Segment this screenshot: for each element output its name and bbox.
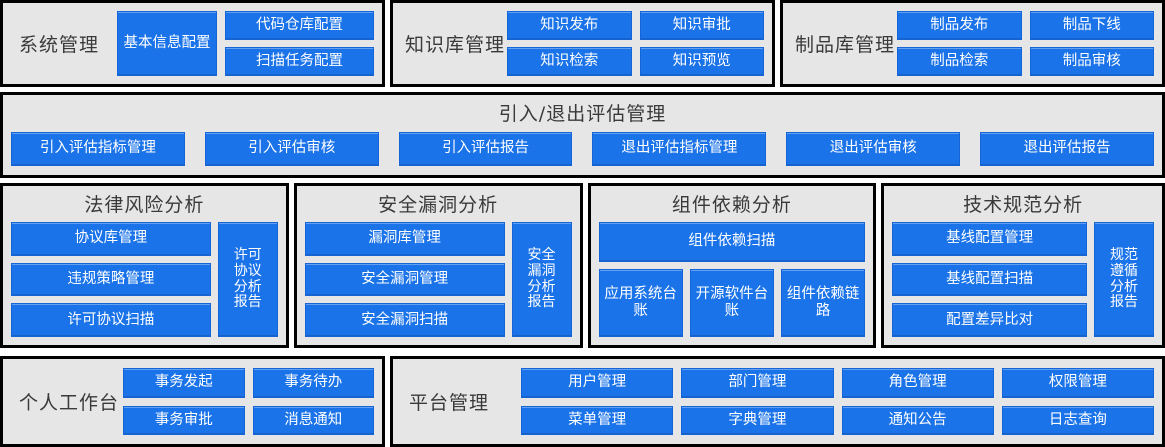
workbench-column-2: 事务待办 消息通知 [253, 368, 375, 435]
button-exit-eval-indicator-management[interactable]: 退出评估指标管理 [592, 132, 766, 166]
button-transaction-approve[interactable]: 事务审批 [123, 406, 245, 436]
panel-title-platform-management: 平台管理 [403, 388, 521, 415]
button-basic-info-config[interactable]: 基本信息配置 [117, 11, 217, 76]
button-scan-task-config[interactable]: 扫描任务配置 [225, 47, 374, 76]
panel-platform-management: 平台管理 用户管理 菜单管理 部门管理 字典管理 角色管理 通知公告 权限管理 … [390, 356, 1165, 447]
button-intro-eval-report[interactable]: 引入评估报告 [399, 132, 573, 166]
button-artifact-search[interactable]: 制品检索 [897, 47, 1022, 76]
button-component-dependency-scan[interactable]: 组件依赖扫描 [599, 222, 866, 262]
legal-risk-report-wrap: 许可协议分析报告 [218, 222, 278, 337]
button-role-management[interactable]: 角色管理 [842, 368, 994, 398]
security-report-wrap: 安全漏洞分析报告 [512, 222, 572, 337]
workbench-column-1: 事务发起 事务审批 [123, 368, 245, 435]
panel-title-knowledge-base-management: 知识库管理 [403, 30, 507, 57]
button-component-dependency-chain[interactable]: 组件依赖链路 [781, 269, 865, 337]
platform-column-2: 部门管理 字典管理 [681, 368, 833, 435]
button-permission-management[interactable]: 权限管理 [1002, 368, 1154, 398]
row-top: 系统管理 基本信息配置 代码仓库配置 扫描任务配置 知识库管理 知识发布 知识检… [0, 0, 1165, 87]
button-user-management[interactable]: 用户管理 [521, 368, 673, 398]
button-config-difference-comparison[interactable]: 配置差异比对 [892, 303, 1087, 337]
button-license-analysis-report[interactable]: 许可协议分析报告 [218, 222, 278, 337]
button-baseline-config-scan[interactable]: 基线配置扫描 [892, 263, 1087, 297]
button-security-vulnerability-analysis-report[interactable]: 安全漏洞分析报告 [512, 222, 572, 337]
platform-column-3: 角色管理 通知公告 [842, 368, 994, 435]
system-management-buttons: 基本信息配置 代码仓库配置 扫描任务配置 [117, 3, 374, 84]
platform-column-1: 用户管理 菜单管理 [521, 368, 673, 435]
evaluation-buttons: 引入评估指标管理 引入评估审核 引入评估报告 退出评估指标管理 退出评估审核 退… [11, 129, 1154, 168]
button-transaction-initiate[interactable]: 事务发起 [123, 368, 245, 398]
panel-title-introduction-exit-evaluation: 引入/退出评估管理 [11, 99, 1154, 126]
button-code-repo-config[interactable]: 代码仓库配置 [225, 11, 374, 40]
button-open-source-software-ledger[interactable]: 开源软件台账 [690, 269, 774, 337]
button-exit-eval-report[interactable]: 退出评估报告 [980, 132, 1154, 166]
panel-title-technical-specification-analysis: 技术规范分析 [892, 190, 1154, 217]
panel-title-system-management: 系统管理 [13, 30, 117, 57]
button-knowledge-approve[interactable]: 知识审批 [640, 11, 765, 40]
system-management-column-2: 代码仓库配置 扫描任务配置 [225, 11, 374, 76]
button-knowledge-search[interactable]: 知识检索 [507, 47, 632, 76]
panel-security-vulnerability-analysis: 安全漏洞分析 漏洞库管理 安全漏洞管理 安全漏洞扫描 安全漏洞分析报告 [294, 183, 583, 348]
panel-title-security-vulnerability-analysis: 安全漏洞分析 [305, 190, 572, 217]
technical-specification-buttons: 基线配置管理 基线配置扫描 配置差异比对 [892, 222, 1087, 337]
button-exit-eval-review[interactable]: 退出评估审核 [786, 132, 960, 166]
panel-title-component-dependency-analysis: 组件依赖分析 [599, 190, 866, 217]
panel-title-legal-risk-analysis: 法律风险分析 [11, 190, 278, 217]
technical-report-wrap: 规范遵循分析报告 [1094, 222, 1154, 337]
button-knowledge-publish[interactable]: 知识发布 [507, 11, 632, 40]
button-department-management[interactable]: 部门管理 [681, 368, 833, 398]
button-menu-management[interactable]: 菜单管理 [521, 406, 673, 436]
legal-risk-buttons: 协议库管理 违规策略管理 许可协议扫描 [11, 222, 211, 337]
button-transaction-todo[interactable]: 事务待办 [253, 368, 375, 398]
technical-specification-body: 基线配置管理 基线配置扫描 配置差异比对 规范遵循分析报告 [892, 222, 1154, 337]
button-artifact-publish[interactable]: 制品发布 [897, 11, 1022, 40]
row-analysis: 法律风险分析 协议库管理 违规策略管理 许可协议扫描 许可协议分析报告 安全漏洞… [0, 183, 1165, 348]
panel-title-personal-workbench: 个人工作台 [13, 388, 123, 415]
button-message-notification[interactable]: 消息通知 [253, 406, 375, 436]
button-intro-eval-review[interactable]: 引入评估审核 [205, 132, 379, 166]
panel-legal-risk-analysis: 法律风险分析 协议库管理 违规策略管理 许可协议扫描 许可协议分析报告 [0, 183, 289, 348]
panel-title-artifact-repository-management: 制品库管理 [793, 30, 897, 57]
component-dependency-scan-wrap: 组件依赖扫描 [599, 222, 866, 262]
row-bottom: 个人工作台 事务发起 事务审批 事务待办 消息通知 平台管理 用户管理 菜单管理 [0, 356, 1165, 447]
button-violation-policy-management[interactable]: 违规策略管理 [11, 263, 211, 297]
button-log-query[interactable]: 日志查询 [1002, 406, 1154, 436]
artifact-repository-buttons: 制品发布 制品检索 制品下线 制品审核 [897, 3, 1154, 84]
button-license-agreement-scan[interactable]: 许可协议扫描 [11, 303, 211, 337]
panel-artifact-repository-management: 制品库管理 制品发布 制品检索 制品下线 制品审核 [780, 0, 1165, 87]
knowledge-base-column-2: 知识审批 知识预览 [640, 11, 765, 76]
panel-knowledge-base-management: 知识库管理 知识发布 知识检索 知识审批 知识预览 [390, 0, 775, 87]
system-function-map: 系统管理 基本信息配置 代码仓库配置 扫描任务配置 知识库管理 知识发布 知识检… [0, 0, 1165, 447]
security-vulnerability-buttons: 漏洞库管理 安全漏洞管理 安全漏洞扫描 [305, 222, 505, 337]
row-evaluation: 引入/退出评估管理 引入评估指标管理 引入评估审核 引入评估报告 退出评估指标管… [0, 92, 1165, 178]
button-artifact-offline[interactable]: 制品下线 [1030, 11, 1155, 40]
button-artifact-review[interactable]: 制品审核 [1030, 47, 1155, 76]
panel-component-dependency-analysis: 组件依赖分析 组件依赖扫描 应用系统台账 开源软件台账 组件依赖链路 [588, 183, 877, 348]
button-specification-compliance-analysis-report[interactable]: 规范遵循分析报告 [1094, 222, 1154, 337]
legal-risk-body: 协议库管理 违规策略管理 许可协议扫描 许可协议分析报告 [11, 222, 278, 337]
button-license-library-management[interactable]: 协议库管理 [11, 222, 211, 256]
panel-system-management: 系统管理 基本信息配置 代码仓库配置 扫描任务配置 [0, 0, 385, 87]
security-vulnerability-body: 漏洞库管理 安全漏洞管理 安全漏洞扫描 安全漏洞分析报告 [305, 222, 572, 337]
component-dependency-body: 组件依赖扫描 应用系统台账 开源软件台账 组件依赖链路 [599, 222, 866, 337]
button-knowledge-preview[interactable]: 知识预览 [640, 47, 765, 76]
button-baseline-config-management[interactable]: 基线配置管理 [892, 222, 1087, 256]
artifact-column-2: 制品下线 制品审核 [1030, 11, 1155, 76]
platform-column-4: 权限管理 日志查询 [1002, 368, 1154, 435]
platform-management-buttons: 用户管理 菜单管理 部门管理 字典管理 角色管理 通知公告 权限管理 日志查询 [521, 359, 1154, 444]
artifact-column-1: 制品发布 制品检索 [897, 11, 1022, 76]
button-security-vulnerability-management[interactable]: 安全漏洞管理 [305, 263, 505, 297]
button-vulnerability-library-management[interactable]: 漏洞库管理 [305, 222, 505, 256]
panel-personal-workbench: 个人工作台 事务发起 事务审批 事务待办 消息通知 [0, 356, 385, 447]
panel-technical-specification-analysis: 技术规范分析 基线配置管理 基线配置扫描 配置差异比对 规范遵循分析报告 [881, 183, 1165, 348]
button-application-system-ledger[interactable]: 应用系统台账 [599, 269, 683, 337]
knowledge-base-buttons: 知识发布 知识检索 知识审批 知识预览 [507, 3, 764, 84]
button-announcement[interactable]: 通知公告 [842, 406, 994, 436]
knowledge-base-column-1: 知识发布 知识检索 [507, 11, 632, 76]
button-security-vulnerability-scan[interactable]: 安全漏洞扫描 [305, 303, 505, 337]
button-dictionary-management[interactable]: 字典管理 [681, 406, 833, 436]
panel-introduction-exit-evaluation: 引入/退出评估管理 引入评估指标管理 引入评估审核 引入评估报告 退出评估指标管… [0, 92, 1165, 178]
personal-workbench-buttons: 事务发起 事务审批 事务待办 消息通知 [123, 359, 374, 444]
component-dependency-buttons: 应用系统台账 开源软件台账 组件依赖链路 [599, 269, 866, 337]
row-spacer-3 [0, 348, 1165, 356]
button-intro-eval-indicator-management[interactable]: 引入评估指标管理 [11, 132, 185, 166]
